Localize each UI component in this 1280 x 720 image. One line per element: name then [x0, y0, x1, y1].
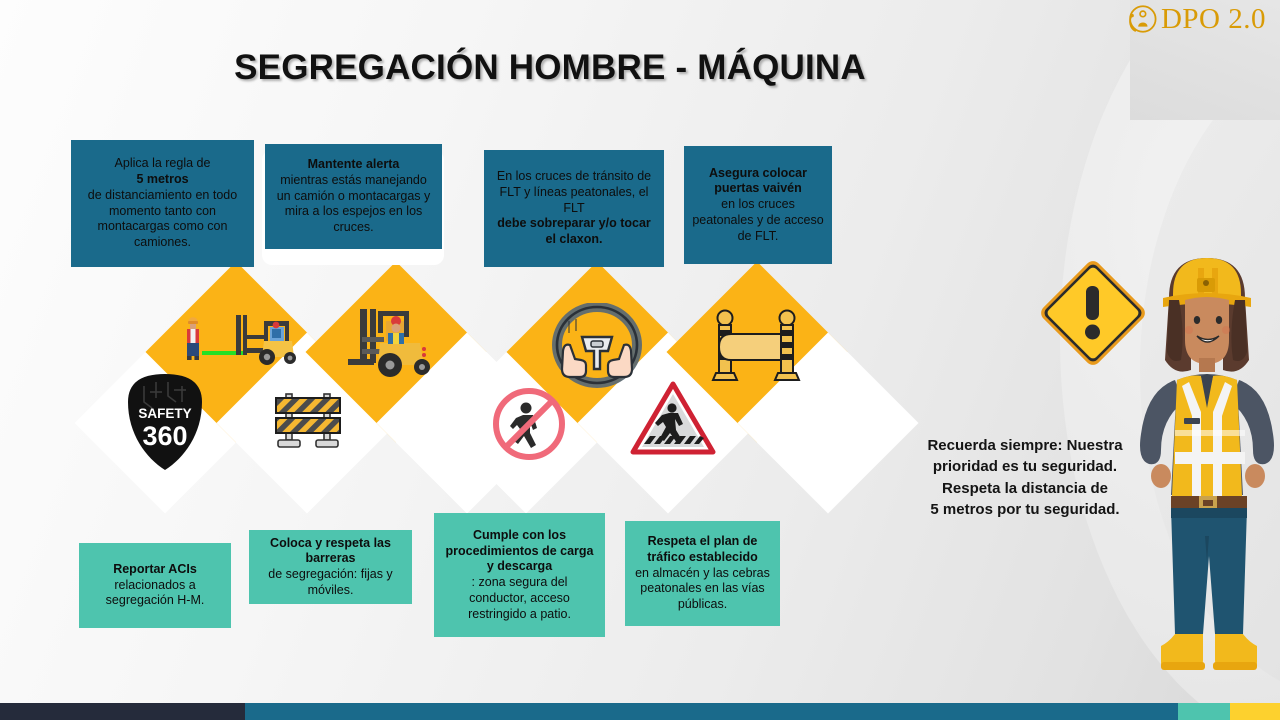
- slide-canvas: DPO 2.0 SEGREGACIÓN HOMBRE - MÁQUINA Apl…: [0, 0, 1280, 720]
- callout-text: Coloca y respeta las barreras de segrega…: [257, 536, 404, 599]
- callout-rule-5-metros[interactable]: Aplica la regla de 5 metros de distancia…: [71, 140, 254, 267]
- callout-text: Reportar ACIs relacionados a segregación…: [87, 562, 223, 609]
- reminder-line-1: Recuerda siempre: Nuestra: [900, 435, 1150, 456]
- reminder-line-4: 5 metros por tu seguridad.: [900, 499, 1150, 520]
- callout-reportar-acis[interactable]: Reportar ACIs relacionados a segregación…: [79, 543, 231, 628]
- callout-text: Mantente alerta mientras estás manejando…: [273, 157, 434, 236]
- helmet-logo: [1197, 278, 1215, 292]
- logo-text: DPO 2.0: [1161, 3, 1266, 36]
- footer-segment-yellow: [1230, 703, 1280, 720]
- reminder-text: Recuerda siempre: Nuestra prioridad es t…: [900, 435, 1150, 520]
- callout-text: Asegura colocar puertas vaivén en los cr…: [692, 166, 824, 245]
- callout-text: Respeta el plan de tráfico establecido e…: [633, 534, 772, 613]
- callout-text: En los cruces de tránsito de FLT y línea…: [492, 169, 656, 248]
- callout-plan-de-trafico[interactable]: Respeta el plan de tráfico establecido e…: [625, 521, 780, 626]
- footer-color-bar: [0, 703, 1280, 720]
- callout-text: Cumple con los procedimientos de carga y…: [442, 528, 597, 623]
- person-in-circle-icon: [1125, 2, 1159, 36]
- callout-puertas-vaiven[interactable]: Asegura colocar puertas vaivén en los cr…: [684, 146, 832, 264]
- reminder-line-2: prioridad es tu seguridad.: [900, 456, 1150, 477]
- dpo-logo: DPO 2.0: [1125, 2, 1266, 36]
- footer-segment-blue: [245, 703, 1178, 720]
- reminder-line-3: Respeta la distancia de: [900, 478, 1150, 499]
- callout-carga-descarga[interactable]: Cumple con los procedimientos de carga y…: [434, 513, 605, 637]
- callout-text: Aplica la regla de 5 metros de distancia…: [79, 156, 246, 251]
- footer-segment-navy: [0, 703, 245, 720]
- callout-mantente-alerta[interactable]: Mantente alerta mientras estás manejando…: [265, 144, 442, 249]
- callout-barreras-segregacion[interactable]: Coloca y respeta las barreras de segrega…: [249, 530, 412, 604]
- footer-segment-mint: [1178, 703, 1230, 720]
- callout-cruces-claxon[interactable]: En los cruces de tránsito de FLT y línea…: [484, 150, 664, 267]
- page-title: SEGREGACIÓN HOMBRE - MÁQUINA: [0, 48, 1100, 88]
